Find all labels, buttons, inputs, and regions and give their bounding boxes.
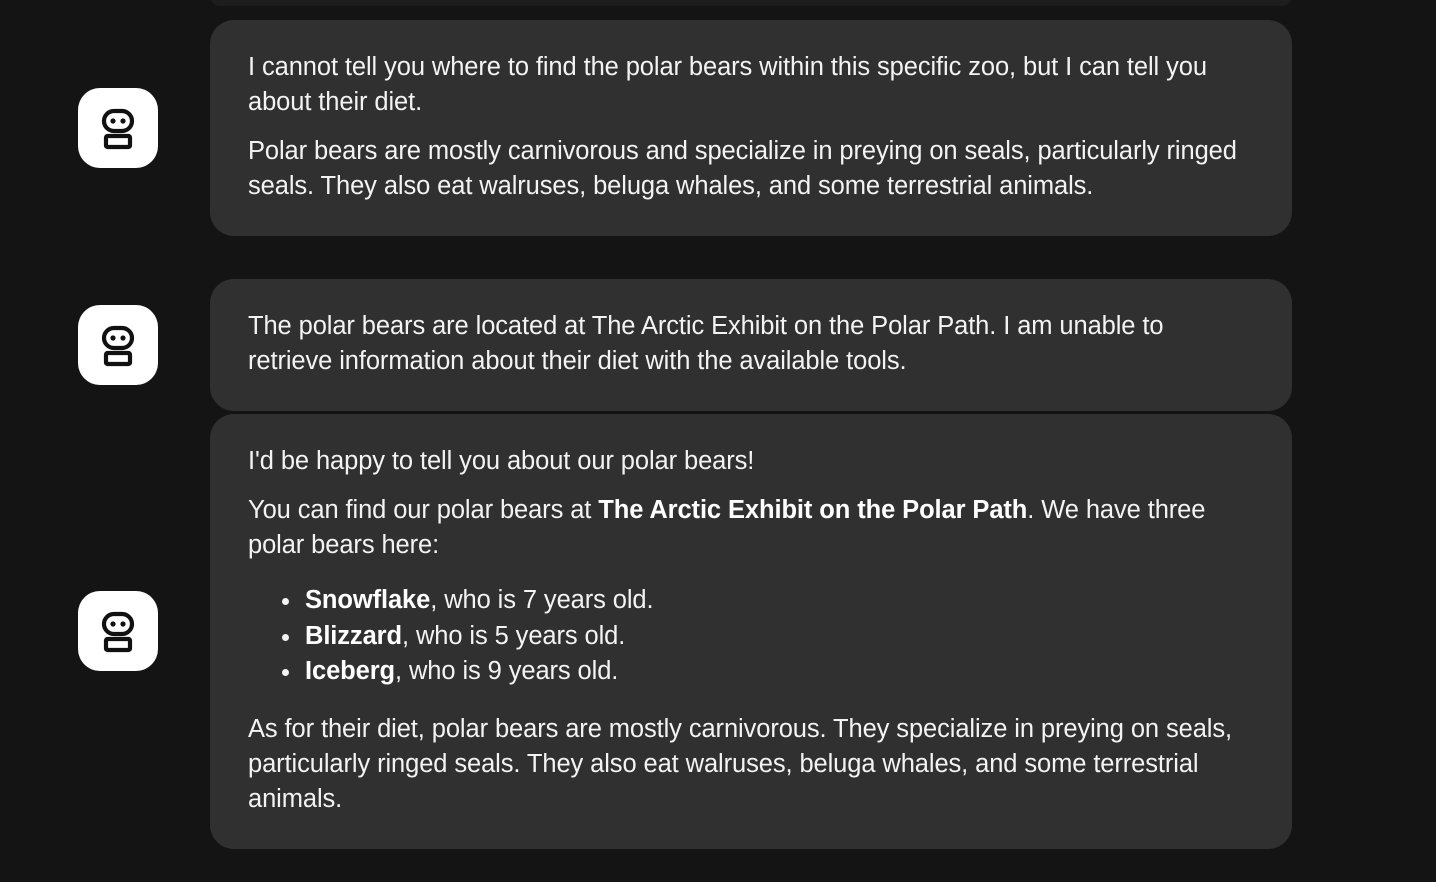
message-paragraph: I cannot tell you where to find the pola… [248,50,1254,120]
assistant-message-1: I cannot tell you where to find the pola… [78,20,1292,236]
list-item: Snowflake, who is 7 years old. [305,583,1254,619]
message-paragraph: The polar bears are located at The Arcti… [248,309,1254,379]
emphasized-text: Iceberg [305,657,395,685]
chat-transcript[interactable]: I cannot tell you where to find the pola… [0,0,1436,882]
emphasized-text: Blizzard [305,622,402,650]
message-paragraph: As for their diet, polar bears are mostl… [248,712,1254,817]
message-paragraph: You can find our polar bears at The Arct… [248,493,1254,563]
message-bubble[interactable]: I cannot tell you where to find the pola… [210,20,1292,236]
list-item: Blizzard, who is 5 years old. [305,619,1254,655]
robot-icon [95,105,141,151]
list-item: Iceberg, who is 9 years old. [305,654,1254,690]
assistant-avatar [78,591,158,671]
assistant-avatar [78,305,158,385]
robot-icon [95,608,141,654]
assistant-message-2: The polar bears are located at The Arcti… [78,279,1292,411]
polar-bear-list: Snowflake, who is 7 years old.Blizzard, … [248,583,1254,690]
scrolled-off-message-edge [210,0,1292,6]
message-paragraph: Polar bears are mostly carnivorous and s… [248,134,1254,204]
message-bubble[interactable]: The polar bears are located at The Arcti… [210,279,1292,411]
assistant-avatar [78,88,158,168]
robot-icon [95,322,141,368]
assistant-message-3: I'd be happy to tell you about our polar… [78,414,1292,849]
message-paragraph: I'd be happy to tell you about our polar… [248,444,1254,479]
emphasized-text: The Arctic Exhibit on the Polar Path [598,496,1027,524]
emphasized-text: Snowflake [305,586,430,614]
message-bubble[interactable]: I'd be happy to tell you about our polar… [210,414,1292,849]
